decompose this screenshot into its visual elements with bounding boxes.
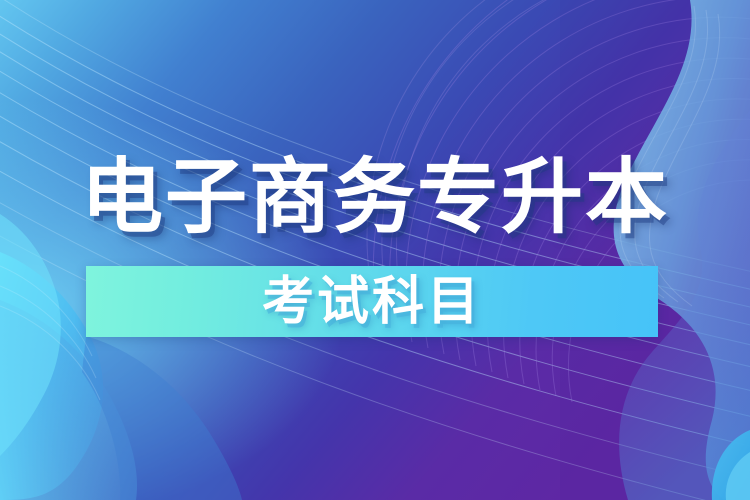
promo-banner: 电子商务专升本 考试科目 xyxy=(0,0,750,500)
background-artwork xyxy=(0,0,750,500)
subtitle-band: 考试科目 xyxy=(86,266,658,337)
banner-subtitle: 考试科目 xyxy=(262,276,482,328)
